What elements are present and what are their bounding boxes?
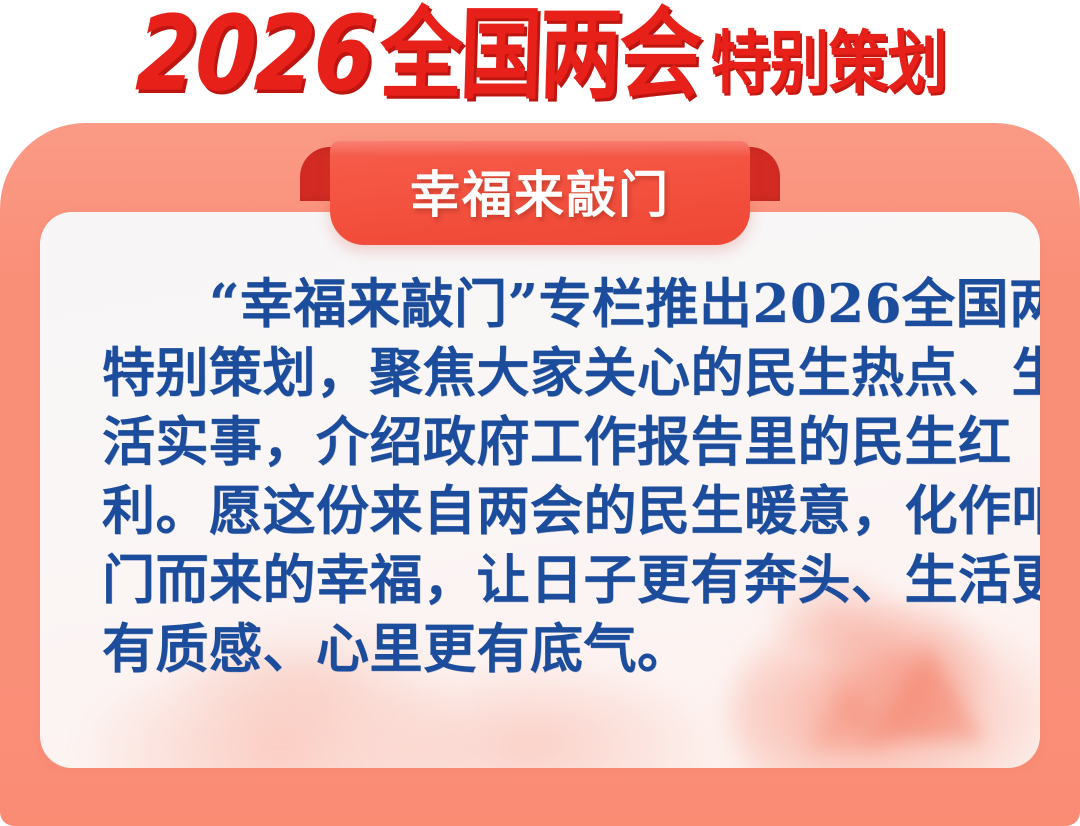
article-body: “幸福来敲门”专栏推出2026全国两会 特别策划，聚焦大家关心的民生热点、生 活… (102, 270, 992, 684)
body-line: 有质感、心里更有底气。 (102, 615, 992, 684)
ribbon-title: 幸福来敲门 (300, 141, 780, 245)
page-headline: 2026 全国两会 特别策划 (0, 0, 1080, 123)
body-line: 活实事，介绍政府工作报告里的民生红 (102, 408, 992, 477)
headline-year: 2026 (134, 2, 376, 106)
body-line: “幸福来敲门”专栏推出2026全国两会 (102, 270, 992, 339)
body-line: 门而来的幸福，让日子更有奔头、生活更 (102, 546, 992, 615)
section-ribbon-banner: 幸福来敲门 (300, 141, 780, 245)
headline-main-title: 全国两会 (379, 5, 701, 105)
poster-root: 2026 全国两会 特别策划 “幸福来敲门”专栏推出2026全国两会 特别策划，… (0, 0, 1080, 826)
headline-subtitle: 特别策划 (710, 29, 946, 97)
body-line: 利。愿这份来自两会的民生暖意，化作叩 (102, 477, 992, 546)
watercolor-mountain-peak-secondary (806, 682, 890, 748)
content-card: “幸福来敲门”专栏推出2026全国两会 特别策划，聚焦大家关心的民生热点、生 活… (40, 212, 1040, 768)
body-line: 特别策划，聚焦大家关心的民生热点、生 (102, 339, 992, 408)
